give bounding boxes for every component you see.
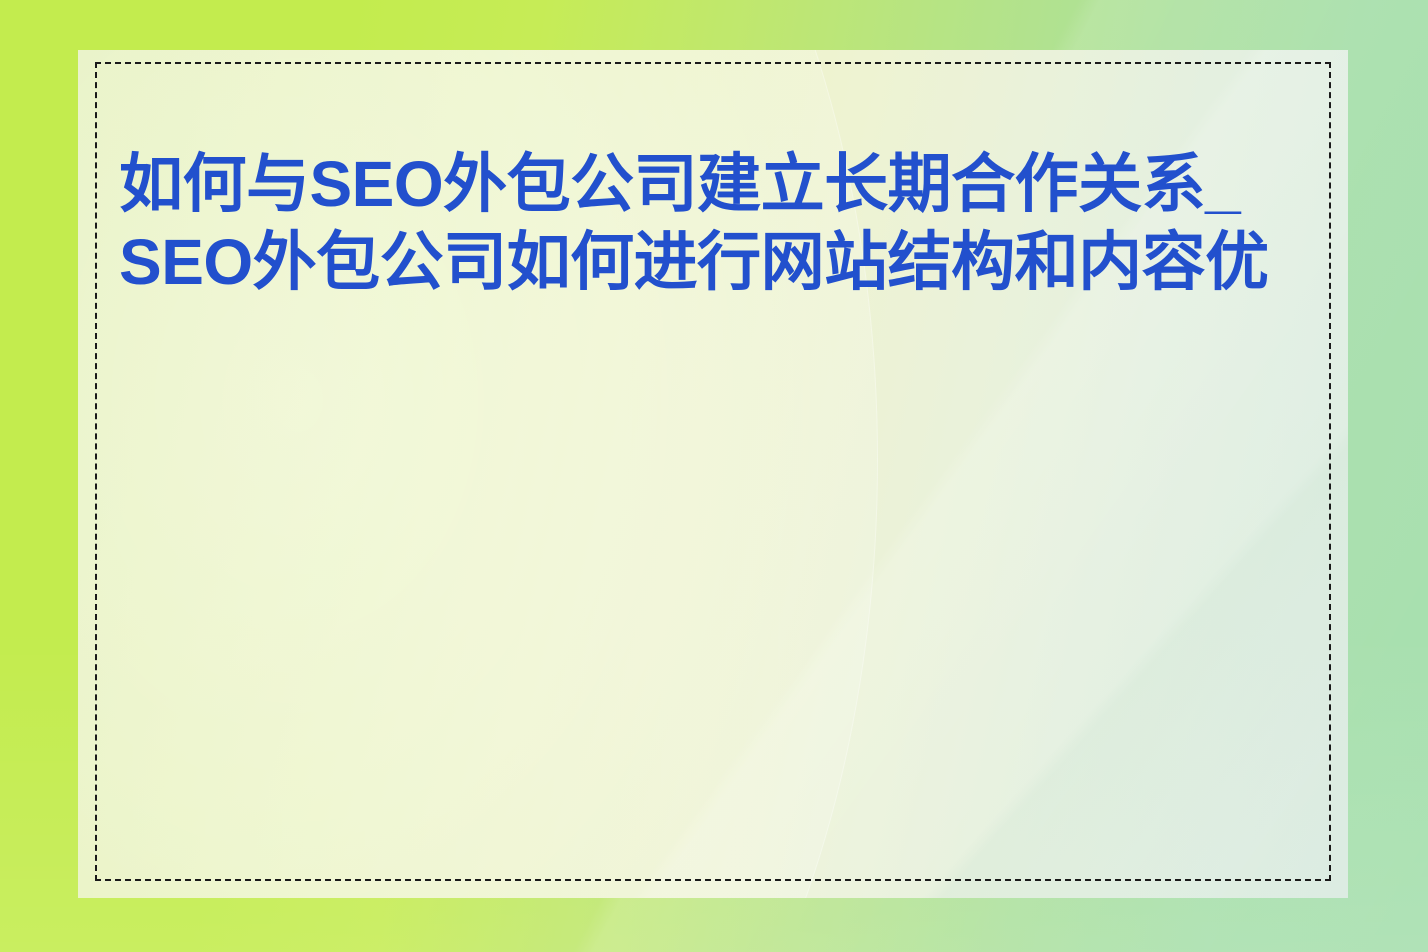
page-title-line-1: 如何与SEO外包公司建立长期合作关系_ bbox=[119, 145, 1348, 223]
banner-canvas: 如何与SEO外包公司建立长期合作关系_SEO外包公司如何进行网站结构和内容优 bbox=[0, 0, 1428, 952]
page-title: 如何与SEO外包公司建立长期合作关系_SEO外包公司如何进行网站结构和内容优 bbox=[119, 145, 1348, 301]
headline-clip-region: 如何与SEO外包公司建立长期合作关系_SEO外包公司如何进行网站结构和内容优 bbox=[119, 145, 1348, 345]
page-title-line-2: SEO外包公司如何进行网站结构和内容优 bbox=[119, 223, 1348, 301]
content-card: 如何与SEO外包公司建立长期合作关系_SEO外包公司如何进行网站结构和内容优 bbox=[78, 50, 1348, 898]
